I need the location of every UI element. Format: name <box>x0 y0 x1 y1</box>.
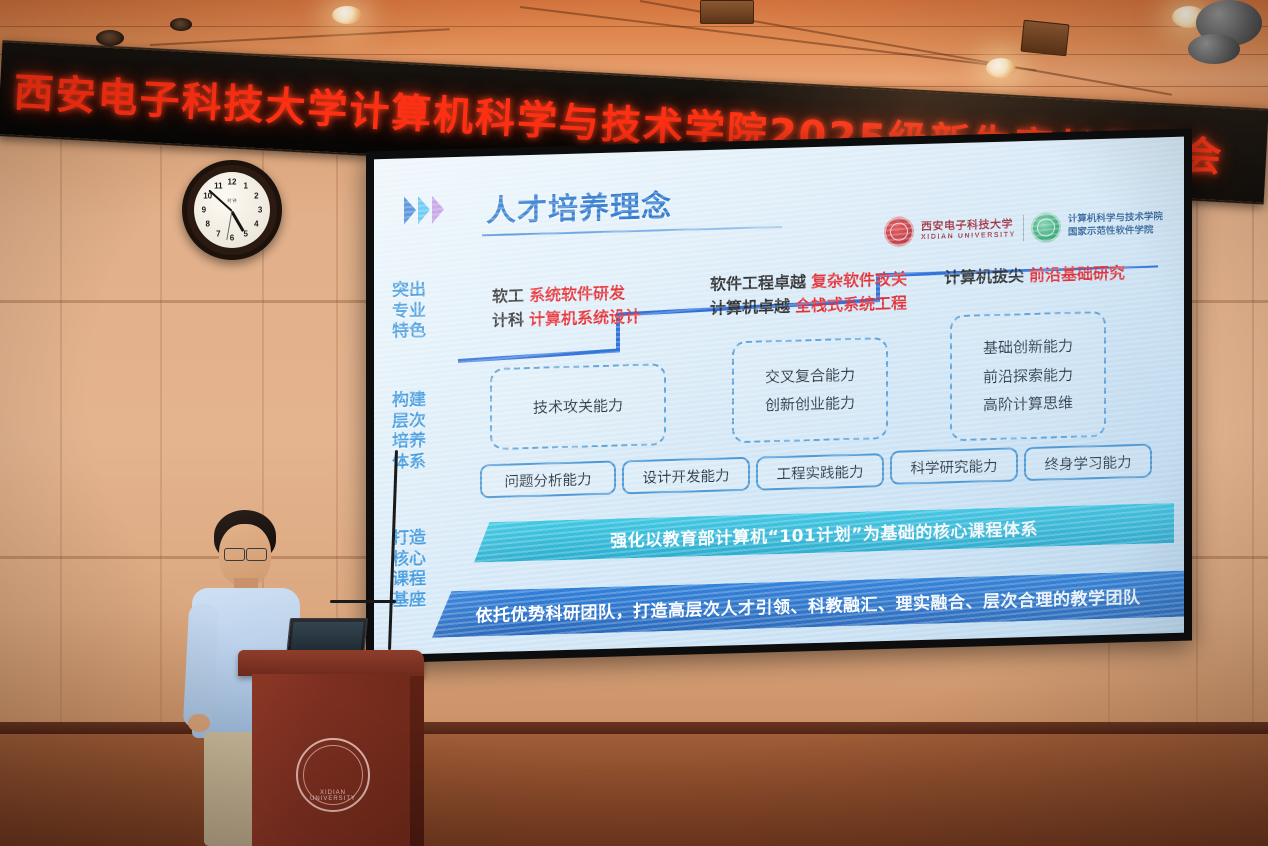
core-course-band: 强化以教育部计算机“101计划”为基础的核心课程体系 <box>474 503 1174 563</box>
projection-screen-frame: 人才培养理念 西安电子科技大学 XIDIAN UNIVERSITY 计算机科学与… <box>366 128 1192 663</box>
title-chevrons <box>404 195 444 224</box>
school-logo-text: 计算机科学与技术学院 国家示范性软件学院 <box>1068 211 1163 239</box>
presentation-slide: 人才培养理念 西安电子科技大学 XIDIAN UNIVERSITY 计算机科学与… <box>374 137 1184 656</box>
clock-brand: 时 钟 <box>227 198 236 204</box>
glasses-icon <box>224 548 245 561</box>
chevron-icon <box>432 195 444 223</box>
clock-face: 时 钟 12 1 2 3 4 5 6 7 8 9 10 11 <box>194 172 270 248</box>
slide-title: 人才培养理念 <box>486 181 672 230</box>
ability-box-2: 交叉复合能力 创新创业能力 <box>732 337 888 443</box>
university-logo-text: 西安电子科技大学 XIDIAN UNIVERSITY <box>921 219 1016 241</box>
specialty-group-3: 计算机拔尖前沿基础研究 <box>944 262 1125 291</box>
ceiling-light-box <box>700 0 754 24</box>
microphone-boom <box>330 600 396 603</box>
slide-logos: 西安电子科技大学 XIDIAN UNIVERSITY 计算机科学与技术学院 国家… <box>884 209 1163 247</box>
ceiling-spotlight <box>986 58 1016 78</box>
specialty-group-2: 软件工程卓越复杂软件攻关 计算机卓越全栈式系统工程 <box>710 268 907 321</box>
capability-5: 终身学习能力 <box>1024 444 1152 482</box>
side-label-1: 突出专业特色 <box>392 280 438 343</box>
capability-3: 工程实践能力 <box>756 453 884 491</box>
podium-side <box>410 676 424 846</box>
chevron-icon <box>404 196 416 224</box>
capability-4: 科学研究能力 <box>890 447 1018 485</box>
side-label-3: 打造核心课程基座 <box>392 528 438 612</box>
specialty-group-1: 软工系统软件研发 计科计算机系统设计 <box>492 282 641 334</box>
wall-clock: 时 钟 12 1 2 3 4 5 6 7 8 9 10 11 <box>182 160 282 260</box>
chevron-icon <box>418 196 430 224</box>
capability-2: 设计开发能力 <box>622 457 750 495</box>
ceiling-recessed-light <box>170 18 192 31</box>
ceiling-vent <box>1188 34 1240 64</box>
clock-hour-hand <box>231 211 245 232</box>
glasses-icon <box>246 548 267 561</box>
ceiling-recessed-light <box>96 30 124 46</box>
photo-scene: 西安电子科技大学计算机科学与技术学院2025级新生家长见面会 时 钟 12 1 … <box>0 0 1268 846</box>
podium-university-seal-icon: XIDIAN UNIVERSITY <box>296 738 370 812</box>
university-seal-icon <box>884 216 914 247</box>
ceiling-spotlight <box>332 6 362 24</box>
presenter-hand <box>188 714 210 732</box>
logo-divider <box>1023 215 1024 241</box>
podium-top <box>238 650 424 676</box>
ability-box-1: 技术攻关能力 <box>490 363 666 450</box>
ceiling-light-box <box>1020 20 1069 57</box>
school-seal-icon <box>1031 212 1061 243</box>
capability-1: 问题分析能力 <box>480 461 616 499</box>
side-label-2: 构建层次培养体系 <box>392 390 438 474</box>
teaching-team-band: 依托优势科研团队，打造高层次人才引领、科教融汇、理实融合、层次合理的教学团队 <box>432 571 1184 638</box>
ability-box-3: 基础创新能力 前沿探索能力 高阶计算思维 <box>950 311 1106 441</box>
